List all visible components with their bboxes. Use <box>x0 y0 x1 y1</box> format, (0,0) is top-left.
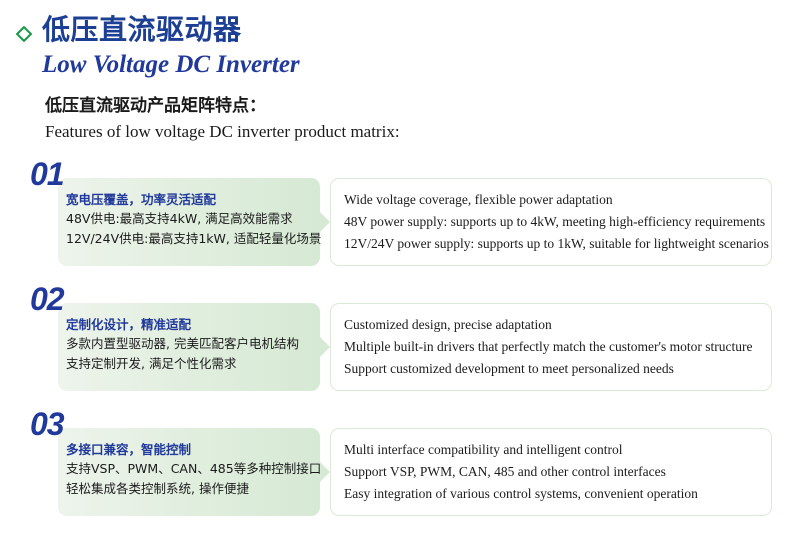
feature-en-line: Multi interface compatibility and intell… <box>344 439 774 461</box>
feature-cn-text: 定制化设计，精准适配 多款内置型驱动器, 完美匹配客户电机结构 支持定制开发, … <box>66 315 316 373</box>
feature-row: 03 多接口兼容，智能控制 支持VSP、PWM、CAN、485等多种控制接口 轻… <box>0 408 800 523</box>
feature-cn-text: 宽电压覆盖，功率灵活适配 48V供电:最高支持4kW, 满足高效能需求 12V/… <box>66 190 316 248</box>
feature-list: 01 宽电压覆盖，功率灵活适配 48V供电:最高支持4kW, 满足高效能需求 1… <box>0 158 800 533</box>
ring-bullet-icon <box>16 26 32 42</box>
feature-en-text: Multi interface compatibility and intell… <box>344 439 774 505</box>
feature-en-line: 48V power supply: supports up to 4kW, me… <box>344 211 774 233</box>
page-header: 低压直流驱动器 Low Voltage DC Inverter 低压直流驱动产品… <box>0 0 800 81</box>
feature-cn-heading: 定制化设计，精准适配 <box>66 315 316 334</box>
feature-en-line: Multiple built-in drivers that perfectly… <box>344 336 774 358</box>
feature-row: 01 宽电压覆盖，功率灵活适配 48V供电:最高支持4kW, 满足高效能需求 1… <box>0 158 800 273</box>
subtitle-cn: 低压直流驱动产品矩阵特点： <box>45 94 400 119</box>
feature-en-line: 12V/24V power supply: supports up to 1kW… <box>344 233 774 255</box>
feature-row: 02 定制化设计，精准适配 多款内置型驱动器, 完美匹配客户电机结构 支持定制开… <box>0 283 800 398</box>
title-row: 低压直流驱动器 Low Voltage DC Inverter <box>0 0 800 81</box>
feature-en-line: Support VSP, PWM, CAN, 485 and other con… <box>344 461 774 483</box>
title-stack: 低压直流驱动器 Low Voltage DC Inverter <box>42 14 300 81</box>
panel-arrow-icon <box>319 211 330 233</box>
subtitle-block: 低压直流驱动产品矩阵特点： Features of low voltage DC… <box>45 94 400 144</box>
panel-arrow-icon <box>319 336 330 358</box>
feature-cn-line: 支持定制开发, 满足个性化需求 <box>66 354 316 373</box>
feature-cn-text: 多接口兼容，智能控制 支持VSP、PWM、CAN、485等多种控制接口 轻松集成… <box>66 440 316 498</box>
feature-number: 02 <box>30 283 64 315</box>
feature-number: 01 <box>30 158 64 190</box>
feature-cn-line: 轻松集成各类控制系统, 操作便捷 <box>66 479 316 498</box>
feature-en-text: Customized design, precise adaptation Mu… <box>344 314 774 380</box>
feature-cn-heading: 宽电压覆盖，功率灵活适配 <box>66 190 316 209</box>
feature-cn-line: 多款内置型驱动器, 完美匹配客户电机结构 <box>66 334 316 353</box>
feature-number: 03 <box>30 408 64 440</box>
feature-en-line: Support customized development to meet p… <box>344 358 774 380</box>
subtitle-en: Features of low voltage DC inverter prod… <box>45 120 400 145</box>
feature-cn-heading: 多接口兼容，智能控制 <box>66 440 316 459</box>
feature-en-line: Wide voltage coverage, flexible power ad… <box>344 189 774 211</box>
page-title-en: Low Voltage DC Inverter <box>42 49 300 82</box>
feature-cn-line: 12V/24V供电:最高支持1kW, 适配轻量化场景 <box>66 229 316 248</box>
feature-en-line: Easy integration of various control syst… <box>344 483 774 505</box>
feature-cn-line: 48V供电:最高支持4kW, 满足高效能需求 <box>66 209 316 228</box>
feature-en-line: Customized design, precise adaptation <box>344 314 774 336</box>
feature-cn-line: 支持VSP、PWM、CAN、485等多种控制接口 <box>66 459 316 478</box>
page-title-cn: 低压直流驱动器 <box>42 14 300 46</box>
feature-en-text: Wide voltage coverage, flexible power ad… <box>344 189 774 255</box>
